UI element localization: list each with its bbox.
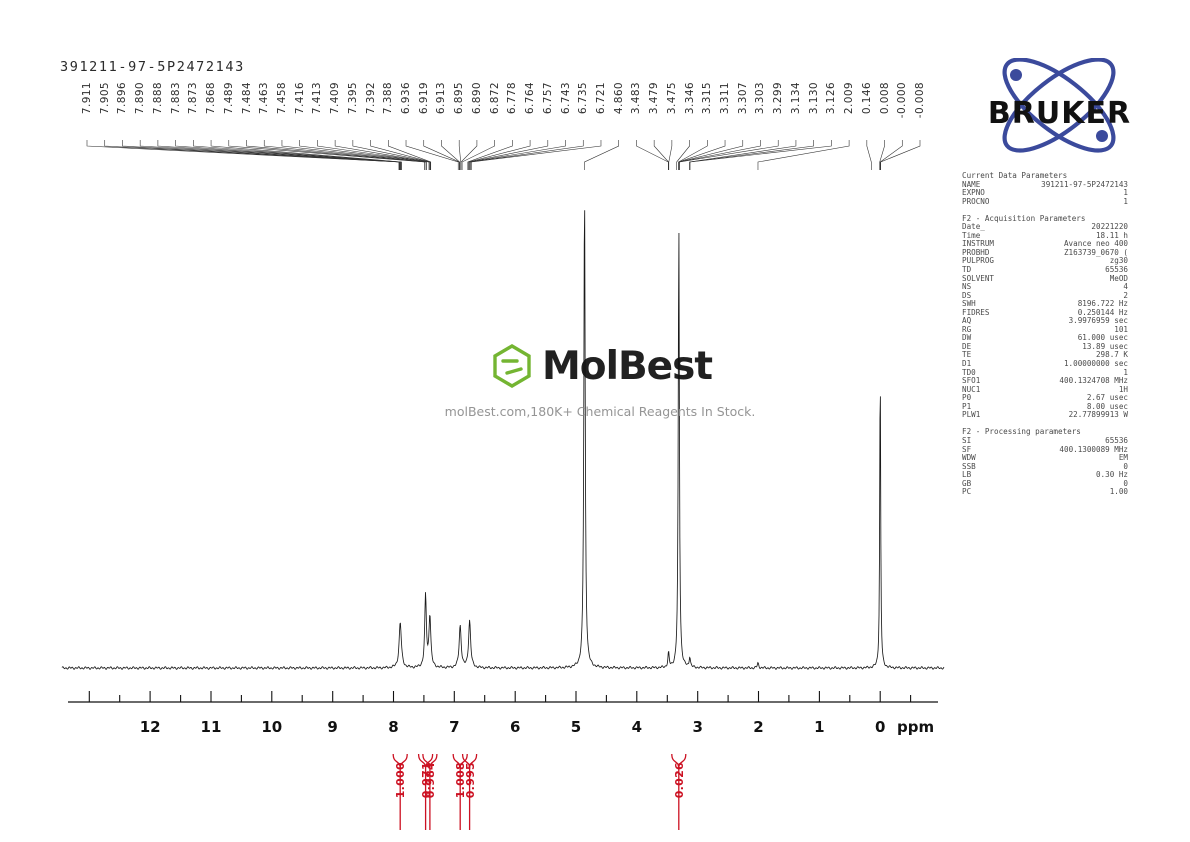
param-value: 391211-97-5P2472143 — [1041, 181, 1128, 190]
peak-shift-label: 3.126 — [826, 82, 837, 114]
param-row: D11.00000000 sec — [962, 360, 1162, 369]
axis-tick-label: 1 — [814, 718, 824, 736]
page-title: 391211-97-5P2472143 — [60, 59, 245, 75]
nmr-spectrum-trace — [0, 170, 950, 690]
peak-shift-label: 7.484 — [242, 82, 253, 114]
integral-value-label: 0.995 — [465, 762, 476, 798]
param-row: SOLVENTMeOD — [962, 275, 1162, 284]
peak-shift-label: 7.905 — [100, 82, 111, 114]
param-value: 400.1300089 MHz — [1059, 446, 1128, 455]
param-section-heading: F2 - Processing parameters — [962, 428, 1162, 437]
peak-shift-label: 6.872 — [490, 82, 501, 114]
peak-shift-label: 6.895 — [454, 82, 465, 114]
param-value: 400.1324708 MHz — [1059, 377, 1128, 386]
param-row: WDWEM — [962, 454, 1162, 463]
param-row: P18.00 usec — [962, 403, 1162, 412]
axis-tick-label: 5 — [571, 718, 581, 736]
param-row: PULPROGzg30 — [962, 257, 1162, 266]
peak-shift-label: 6.890 — [472, 82, 483, 114]
peak-shift-label: 7.409 — [330, 82, 341, 114]
integral-value-label: 0.984 — [425, 762, 436, 798]
peak-shift-label: 3.475 — [667, 82, 678, 114]
peak-shift-label: -0.000 — [897, 82, 908, 118]
param-row: DE13.89 usec — [962, 343, 1162, 352]
param-row: NS4 — [962, 283, 1162, 292]
integral-group: 1.0000.9710.9841.0080.9950.026 — [0, 752, 950, 832]
peak-shift-label: 7.896 — [117, 82, 128, 114]
peak-shift-label: 7.395 — [348, 82, 359, 114]
param-value: 1.00 — [1110, 488, 1128, 497]
peak-leader-lines — [0, 140, 950, 170]
peak-shift-label: 7.888 — [153, 82, 164, 114]
peak-shift-label: 7.873 — [188, 82, 199, 114]
param-row: GB0 — [962, 480, 1162, 489]
param-row: SFO1400.1324708 MHz — [962, 377, 1162, 386]
param-row: INSTRUMAvance neo 400 — [962, 240, 1162, 249]
param-row: DW61.000 usec — [962, 334, 1162, 343]
param-value: 22.77899913 W — [1069, 411, 1128, 420]
peak-shift-label: 0.008 — [880, 82, 891, 114]
peak-shift-label: 6.757 — [543, 82, 554, 114]
param-key: PROCNO — [962, 198, 989, 207]
peak-shift-label: 6.721 — [596, 82, 607, 114]
ppm-axis: ppm 1211109876543210 — [0, 690, 950, 750]
param-row: SSB0 — [962, 463, 1162, 472]
peak-shift-label: 7.458 — [277, 82, 288, 114]
peak-shift-label: 7.416 — [295, 82, 306, 114]
peak-shift-label: 6.919 — [419, 82, 430, 114]
axis-tick-label: 9 — [327, 718, 337, 736]
peak-shift-label: 0.146 — [862, 82, 873, 114]
peak-shift-label: 3.311 — [720, 82, 731, 114]
axis-ruler — [0, 690, 950, 720]
param-row: NAME391211-97-5P2472143 — [962, 181, 1162, 190]
peak-shift-label: 7.489 — [224, 82, 235, 114]
param-row: SF400.1300089 MHz — [962, 446, 1162, 455]
param-row: DS2 — [962, 292, 1162, 301]
axis-tick-label: 7 — [449, 718, 459, 736]
peak-shift-label: 3.303 — [755, 82, 766, 114]
param-key: PC — [962, 488, 971, 497]
param-row: P02.67 usec — [962, 394, 1162, 403]
peak-shift-label: -0.008 — [915, 82, 926, 118]
axis-tick-label: 11 — [201, 718, 222, 736]
peak-shift-label: 3.483 — [631, 82, 642, 114]
param-value: 1 — [1123, 198, 1128, 207]
param-row: TE298.7 K — [962, 351, 1162, 360]
param-row: AQ3.9976959 sec — [962, 317, 1162, 326]
acquisition-parameter-block: Current Data ParametersNAME391211-97-5P2… — [962, 172, 1162, 497]
param-row: PLW122.77899913 W — [962, 411, 1162, 420]
peak-shift-label: 6.936 — [401, 82, 412, 114]
peak-shift-label: 7.868 — [206, 82, 217, 114]
param-value: 1.00000000 sec — [1064, 360, 1128, 369]
axis-tick-label: 3 — [692, 718, 702, 736]
peak-shift-label: 6.743 — [561, 82, 572, 114]
axis-tick-label: 8 — [388, 718, 398, 736]
peak-shift-label: 6.764 — [525, 82, 536, 114]
param-row: EXPNO1 — [962, 189, 1162, 198]
param-row: SWH8196.722 Hz — [962, 300, 1162, 309]
param-section-heading: F2 - Acquisition Parameters — [962, 215, 1162, 224]
param-row: RG101 — [962, 326, 1162, 335]
peak-shift-label: 7.883 — [171, 82, 182, 114]
peak-shift-label-group: 7.9117.9057.8967.8907.8887.8837.8737.868… — [0, 82, 950, 144]
param-row: PC1.00 — [962, 488, 1162, 497]
param-row: FIDRES0.250144 Hz — [962, 309, 1162, 318]
peak-shift-label: 7.413 — [312, 82, 323, 114]
peak-shift-label: 7.890 — [135, 82, 146, 114]
peak-shift-label: 2.009 — [844, 82, 855, 114]
peak-shift-label: 4.860 — [614, 82, 625, 114]
axis-unit-label: ppm — [897, 718, 934, 736]
peak-shift-label: 3.346 — [685, 82, 696, 114]
param-row: Date_20221220 — [962, 223, 1162, 232]
axis-tick-label: 2 — [753, 718, 763, 736]
param-row: LB0.30 Hz — [962, 471, 1162, 480]
axis-tick-label: 0 — [875, 718, 885, 736]
peak-shift-label: 3.299 — [773, 82, 784, 114]
peak-shift-label: 7.463 — [259, 82, 270, 114]
axis-tick-label: 10 — [261, 718, 282, 736]
peak-shift-label: 3.315 — [702, 82, 713, 114]
peak-shift-label: 6.778 — [507, 82, 518, 114]
integral-value-label: 0.026 — [674, 762, 685, 798]
peak-shift-label: 7.392 — [366, 82, 377, 114]
peak-shift-label: 6.913 — [436, 82, 447, 114]
peak-shift-label: 3.134 — [791, 82, 802, 114]
param-row: NUC11H — [962, 386, 1162, 395]
param-row: PROCNO1 — [962, 198, 1162, 207]
axis-tick-label: 12 — [140, 718, 161, 736]
peak-shift-label: 6.735 — [578, 82, 589, 114]
peak-shift-label: 3.479 — [649, 82, 660, 114]
peak-shift-label: 7.911 — [82, 82, 93, 114]
peak-shift-label: 3.307 — [738, 82, 749, 114]
axis-tick-label: 4 — [632, 718, 642, 736]
bruker-wordmark: BRUKER — [962, 96, 1157, 131]
bruker-logo: BRUKER — [962, 58, 1157, 153]
peak-shift-label: 3.130 — [809, 82, 820, 114]
param-key: PLW1 — [962, 411, 980, 420]
peak-shift-label: 7.388 — [383, 82, 394, 114]
axis-tick-label: 6 — [510, 718, 520, 736]
integral-value-label: 1.000 — [395, 762, 406, 798]
